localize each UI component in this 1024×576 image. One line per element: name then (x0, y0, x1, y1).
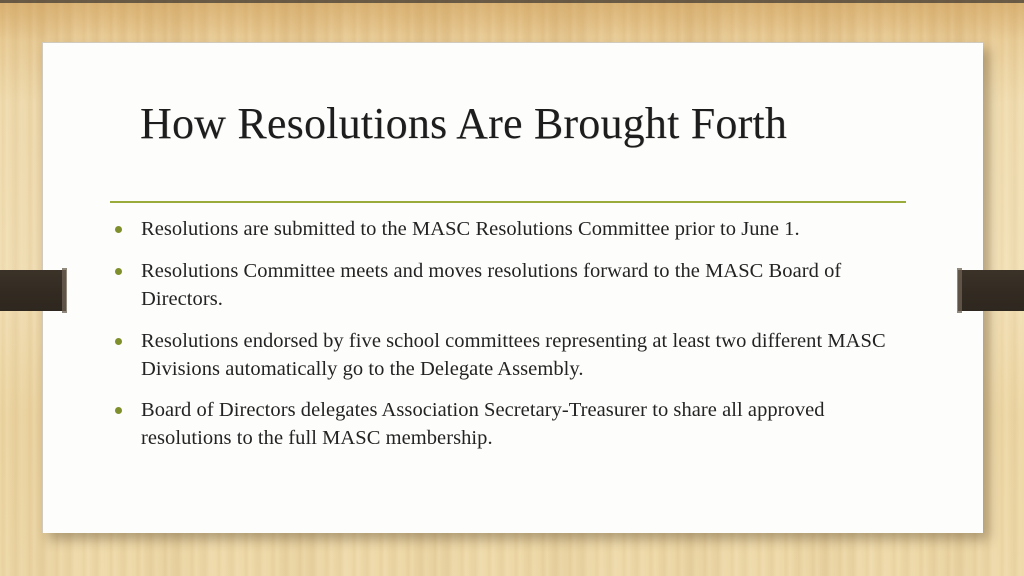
bullet-dot-icon (115, 407, 122, 414)
slide-stage: How Resolutions Are Brought Forth Resolu… (0, 0, 1024, 576)
bullet-text: Resolutions endorsed by five school comm… (141, 328, 912, 384)
top-band-shading (0, 3, 1024, 41)
bullet-dot-icon (115, 268, 122, 275)
page-title: How Resolutions Are Brought Forth (140, 100, 910, 148)
bullet-dot-icon (115, 338, 122, 345)
bullet-text: Resolutions Committee meets and moves re… (141, 258, 912, 314)
list-item: Resolutions Committee meets and moves re… (112, 258, 912, 314)
bullet-text: Board of Directors delegates Association… (141, 397, 912, 453)
title-divider-rule (110, 201, 906, 203)
list-item: Resolutions endorsed by five school comm… (112, 328, 912, 384)
bullet-dot-icon (115, 226, 122, 233)
list-item: Resolutions are submitted to the MASC Re… (112, 216, 912, 244)
bullet-list: Resolutions are submitted to the MASC Re… (112, 216, 912, 467)
bullet-text: Resolutions are submitted to the MASC Re… (141, 216, 912, 244)
title-block: How Resolutions Are Brought Forth (140, 100, 910, 148)
list-item: Board of Directors delegates Association… (112, 397, 912, 453)
left-decorative-tab (0, 270, 66, 311)
right-decorative-tab (958, 270, 1024, 311)
